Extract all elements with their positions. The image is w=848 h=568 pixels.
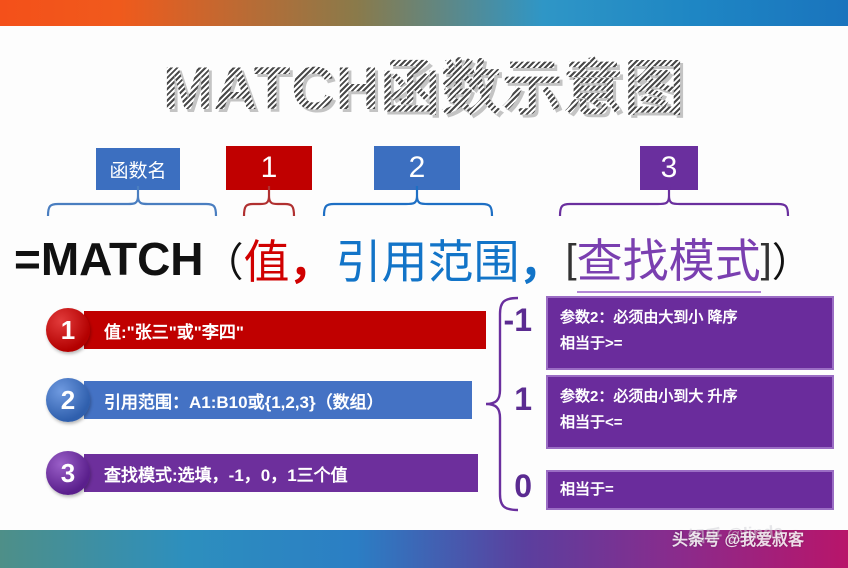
legend-row-2-badge: 2 [46,378,90,422]
tag-function-name-label: 函数名 [109,156,166,183]
formula-close-paren: ） [772,230,812,288]
tag-arg-3: 3 [640,146,698,190]
top-gradient-bar [0,0,848,26]
option-description-1-line2: 相当于>= [560,331,820,357]
formula-function: =MATCH [14,232,204,286]
formula-comma-1: ， [290,226,336,292]
option-description-1-line1: 参数2：必须由大到小 降序 [560,305,820,331]
option-value-2: 1 [486,381,532,418]
tag-function-name: 函数名 [96,148,180,190]
brace-arg2-icon [324,186,492,216]
formula-open-paren: （ [204,230,244,288]
option-value-3: 0 [486,468,532,505]
tag-arg-2-label: 2 [409,151,426,185]
formula-comma-2: ， [520,226,566,292]
legend-row-1-bar: 值:"张三"或"李四" [84,311,486,349]
option-description-3-line1: 相当于= [560,477,820,503]
formula-arg-3: 查找模式 [577,225,761,293]
legend-row-3-bar: 查找模式:选填，-1，0，1三个值 [84,454,478,492]
tag-arg-2: 2 [374,146,460,190]
formula-arg-1: 值 [244,226,290,292]
legend-row-1-badge: 1 [46,308,90,352]
formula-bracket-open: [ [566,237,577,282]
legend-row-1-text: 值:"张三"或"李四" [104,318,244,343]
tag-arg-1: 1 [226,146,312,190]
option-description-2: 参数2：必须由小到大 升序 相当于<= [546,375,834,449]
slide-canvas: MATCH函数示意图 函数名 1 2 3 =MATCH （ 值 ， 引用范围 ，… [0,0,848,568]
legend-row-2-text: 引用范围：A1:B10或{1,2,3}（数组） [104,388,384,413]
tag-arg-1-label: 1 [261,151,278,185]
page-title: MATCH函数示意图 [0,40,848,127]
formula-bracket-close: ] [761,237,772,282]
option-description-2-line1: 参数2：必须由小到大 升序 [560,384,820,410]
legend-row-3-badge: 3 [46,451,90,495]
brace-fn-icon [48,186,216,216]
bottom-gradient-bar [0,530,848,568]
legend-row-3-text: 查找模式:选填，-1，0，1三个值 [104,461,348,486]
brace-arg3-icon [560,186,788,216]
option-description-1: 参数2：必须由大到小 降序 相当于>= [546,296,834,370]
formula-arg-2: 引用范围 [336,226,520,292]
brace-arg1-icon [244,186,294,216]
legend-row-2-bar: 引用范围：A1:B10或{1,2,3}（数组） [84,381,472,419]
option-value-1: -1 [486,302,532,339]
option-description-2-line2: 相当于<= [560,410,820,436]
option-description-3: 相当于= [546,470,834,510]
tag-arg-3-label: 3 [661,151,678,185]
formula-expression: =MATCH （ 值 ， 引用范围 ， [ 查找模式 ] ） [14,228,844,290]
